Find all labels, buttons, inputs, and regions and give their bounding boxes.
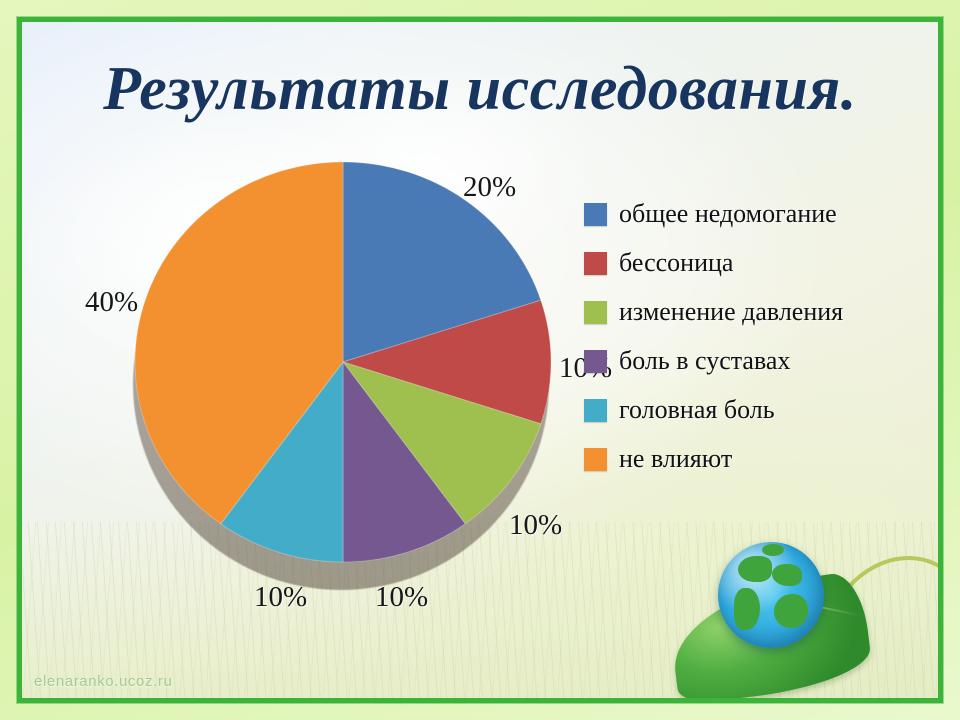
slide-canvas: Результаты исследования. 20% 40% 10% 10%… — [22, 22, 938, 698]
legend-item-bessonica: бессоница — [584, 247, 894, 278]
legend-item-izmenenie-davleniya: изменение давления — [584, 296, 894, 327]
legend-item-obshchee-nedomoganie: общее недомогание — [584, 198, 894, 229]
legend-swatch-icon — [584, 448, 607, 471]
legend-item-ne-vliyayut: не влияют — [584, 443, 894, 474]
chart-legend: общее недомогание бессоница изменение да… — [584, 198, 894, 492]
legend-swatch-icon — [584, 203, 607, 226]
source-watermark: elenaranko.ucoz.ru — [34, 673, 172, 690]
legend-label: изменение давления — [619, 296, 843, 327]
globe-landmass — [762, 544, 784, 556]
globe-on-leaf-image — [670, 536, 938, 698]
legend-swatch-icon — [584, 252, 607, 275]
legend-label: не влияют — [619, 443, 732, 474]
pie-label-izmenenie-davleniya: 10% — [509, 509, 562, 542]
legend-label: боль в суставах — [619, 345, 790, 376]
legend-label: бессоница — [619, 247, 733, 278]
globe-landmass — [738, 556, 772, 582]
legend-item-bol-v-sustavah: боль в суставах — [584, 345, 894, 376]
pie-slices — [133, 160, 553, 580]
legend-swatch-icon — [584, 301, 607, 324]
globe-landmass — [774, 594, 808, 628]
page-title: Результаты исследования. — [22, 54, 938, 125]
legend-label: общее недомогание — [619, 198, 837, 229]
pie-label-ne-vliyayut: 40% — [85, 286, 138, 319]
globe-landmass — [734, 588, 760, 630]
legend-label: головная боль — [619, 394, 775, 425]
globe-landmass — [772, 564, 802, 586]
pie-label-obshchee-nedomoganie: 20% — [463, 171, 516, 204]
globe-icon — [718, 542, 824, 648]
legend-item-golovnaya-bol: головная боль — [584, 394, 894, 425]
pie-chart — [133, 160, 573, 600]
legend-swatch-icon — [584, 399, 607, 422]
pie-label-golovnaya-bol: 10% — [254, 581, 307, 614]
pie-label-bol-v-sustavah: 10% — [375, 581, 428, 614]
legend-swatch-icon — [584, 350, 607, 373]
slide: Результаты исследования. 20% 40% 10% 10%… — [0, 0, 960, 720]
